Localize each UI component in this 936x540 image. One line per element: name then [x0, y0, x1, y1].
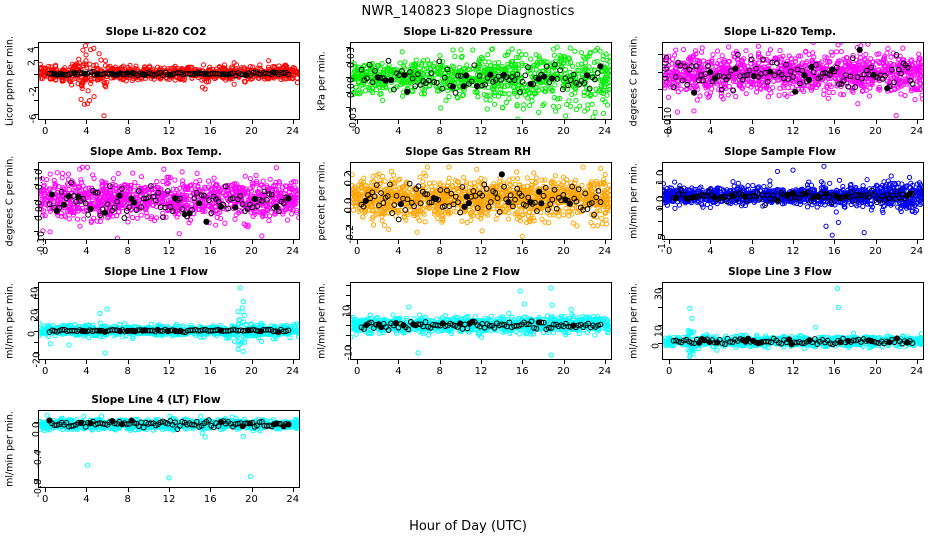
- x-tick-label: 20: [864, 366, 888, 377]
- panel-title: Slope Li-820 CO2: [0, 26, 312, 38]
- x-tick-label: 20: [240, 366, 264, 377]
- x-tick-mark: [45, 120, 46, 124]
- scatter-points: [351, 43, 611, 119]
- y-axis-label: kPa per min.: [317, 51, 328, 110]
- y-tick-label: -6: [28, 114, 39, 123]
- y-tick-mark: [34, 342, 38, 343]
- x-tick-mark: [440, 360, 441, 364]
- x-tick-label: 8: [740, 246, 764, 257]
- x-tick-mark: [669, 360, 670, 364]
- x-tick-label: 24: [593, 366, 617, 377]
- x-tick-mark: [169, 488, 170, 492]
- x-tick-mark: [564, 240, 565, 244]
- y-tick-label: 0.00: [346, 77, 357, 98]
- panel-9: Slope Line 3 Flow01030ml/min per min.048…: [624, 266, 936, 386]
- scatter-points: [663, 163, 923, 239]
- x-tick-label: 4: [74, 494, 98, 505]
- x-tick-mark: [669, 240, 670, 244]
- y-tick-label: 1.0: [655, 170, 666, 185]
- x-tick-mark: [293, 240, 294, 244]
- panel-title: Slope Line 2 Flow: [312, 266, 624, 278]
- x-tick-mark: [128, 240, 129, 244]
- x-tick-label: 4: [698, 246, 722, 257]
- x-tick-mark: [710, 360, 711, 364]
- y-tick-label: 0.0: [343, 198, 354, 213]
- x-tick-label: 0: [657, 126, 681, 137]
- panel-title: Slope Li-820 Temp.: [624, 26, 936, 38]
- panel-4: Slope Amb. Box Temp.-0.100.000.10degrees…: [0, 146, 312, 266]
- scatter-points: [351, 163, 611, 239]
- x-tick-mark: [169, 120, 170, 124]
- x-tick-mark: [793, 240, 794, 244]
- y-axis-label: ml/min per min.: [5, 283, 16, 359]
- y-tick-mark: [34, 74, 38, 75]
- x-tick-mark: [398, 120, 399, 124]
- x-tick-label: 4: [386, 126, 410, 137]
- x-tick-mark: [357, 360, 358, 364]
- x-tick-mark: [793, 120, 794, 124]
- x-tick-label: 12: [469, 246, 493, 257]
- x-tick-label: 16: [198, 126, 222, 137]
- x-tick-label: 0: [33, 126, 57, 137]
- x-tick-label: 4: [386, 366, 410, 377]
- y-axis-label: ml/min per min.: [317, 283, 328, 359]
- x-tick-mark: [522, 360, 523, 364]
- x-tick-mark: [128, 120, 129, 124]
- plot-area: [350, 282, 612, 360]
- x-tick-label: 8: [116, 366, 140, 377]
- x-tick-mark: [398, 240, 399, 244]
- x-tick-mark: [357, 120, 358, 124]
- x-tick-label: 16: [822, 126, 846, 137]
- x-tick-label: 0: [657, 246, 681, 257]
- y-tick-label: 0.10: [34, 169, 45, 190]
- x-tick-label: 24: [905, 366, 929, 377]
- x-tick-mark: [169, 240, 170, 244]
- plot-area: [350, 162, 612, 240]
- x-tick-label: 20: [864, 126, 888, 137]
- y-tick-label: 40: [30, 287, 41, 299]
- x-tick-label: 20: [240, 494, 264, 505]
- x-tick-label: 8: [740, 366, 764, 377]
- x-tick-label: 0: [657, 366, 681, 377]
- x-tick-label: 24: [281, 126, 305, 137]
- x-tick-mark: [293, 120, 294, 124]
- panel-title: Slope Line 1 Flow: [0, 266, 312, 278]
- panel-6: Slope Sample Flow-1.50.01.0ml/min per mi…: [624, 146, 936, 266]
- x-tick-label: 24: [593, 126, 617, 137]
- y-axis-label: percent per min.: [317, 161, 328, 240]
- y-tick-label: 0.00: [34, 200, 45, 221]
- x-tick-label: 20: [240, 246, 264, 257]
- x-tick-label: 20: [240, 126, 264, 137]
- x-tick-mark: [210, 120, 211, 124]
- x-tick-mark: [605, 360, 606, 364]
- x-tick-label: 4: [74, 246, 98, 257]
- y-tick-label: 0.005: [661, 54, 672, 81]
- x-tick-mark: [169, 360, 170, 364]
- panel-3: Slope Li-820 Temp.-0.0100.005degrees C p…: [624, 26, 936, 146]
- x-tick-mark: [876, 240, 877, 244]
- x-tick-label: 12: [781, 366, 805, 377]
- panel-2: Slope Li-820 Pressure-0.030.000.03kPa pe…: [312, 26, 624, 146]
- y-axis-label: ml/min per min.: [629, 283, 640, 359]
- x-tick-mark: [669, 120, 670, 124]
- x-tick-label: 24: [593, 246, 617, 257]
- x-tick-mark: [876, 120, 877, 124]
- plot-area: [38, 410, 300, 488]
- x-tick-label: 12: [781, 126, 805, 137]
- plot-area: [662, 162, 924, 240]
- x-tick-label: 16: [198, 494, 222, 505]
- x-tick-mark: [86, 240, 87, 244]
- x-tick-mark: [481, 240, 482, 244]
- y-tick-label: -10: [343, 345, 354, 361]
- x-tick-mark: [86, 488, 87, 492]
- x-tick-mark: [917, 240, 918, 244]
- x-tick-label: 8: [116, 494, 140, 505]
- plot-area: [662, 282, 924, 360]
- y-tick-mark: [658, 307, 662, 308]
- y-tick-label: 10: [654, 325, 665, 337]
- x-tick-label: 0: [345, 246, 369, 257]
- x-tick-label: 20: [864, 246, 888, 257]
- x-tick-label: 0: [33, 366, 57, 377]
- x-tick-label: 24: [281, 366, 305, 377]
- x-tick-mark: [752, 240, 753, 244]
- y-axis-label: Licor ppm per min.: [5, 36, 16, 126]
- x-tick-mark: [252, 120, 253, 124]
- x-tick-mark: [564, 360, 565, 364]
- panel-title: Slope Line 3 Flow: [624, 266, 936, 278]
- plot-area: [38, 42, 300, 120]
- x-tick-mark: [45, 240, 46, 244]
- y-axis-label: ml/min per min.: [629, 163, 640, 239]
- x-tick-label: 24: [905, 246, 929, 257]
- x-tick-mark: [210, 488, 211, 492]
- scatter-points: [351, 283, 611, 359]
- x-tick-label: 16: [510, 366, 534, 377]
- plot-area: [38, 162, 300, 240]
- x-tick-label: 0: [33, 246, 57, 257]
- x-tick-mark: [45, 488, 46, 492]
- x-tick-mark: [252, 240, 253, 244]
- y-tick-label: 0: [651, 343, 662, 349]
- x-tick-label: 16: [198, 246, 222, 257]
- x-tick-label: 16: [510, 246, 534, 257]
- x-tick-mark: [876, 360, 877, 364]
- x-tick-mark: [128, 488, 129, 492]
- x-tick-mark: [128, 360, 129, 364]
- x-tick-mark: [752, 120, 753, 124]
- x-tick-label: 8: [116, 126, 140, 137]
- x-tick-label: 12: [157, 246, 181, 257]
- y-tick-label: 0.2: [343, 171, 354, 186]
- x-tick-label: 24: [905, 126, 929, 137]
- x-tick-label: 16: [198, 366, 222, 377]
- x-tick-mark: [605, 120, 606, 124]
- x-tick-label: 12: [157, 126, 181, 137]
- y-tick-mark: [658, 89, 662, 90]
- plot-area: [662, 42, 924, 120]
- y-tick-label: 0.0: [31, 422, 42, 437]
- x-tick-mark: [45, 360, 46, 364]
- y-tick-label: -0.2: [345, 225, 356, 244]
- panel-1: Slope Li-820 CO2-6-224Licor ppm per min.…: [0, 26, 312, 146]
- x-tick-mark: [917, 360, 918, 364]
- x-tick-label: 12: [157, 494, 181, 505]
- plot-area: [38, 282, 300, 360]
- y-tick-label: -2: [28, 87, 39, 96]
- scatter-points: [39, 163, 299, 239]
- figure-title: NWR_140823 Slope Diagnostics: [0, 4, 936, 19]
- panel-7: Slope Line 1 Flow-2002040ml/min per min.…: [0, 266, 312, 386]
- figure-canvas: NWR_140823 Slope Diagnostics Slope Li-82…: [0, 0, 936, 540]
- x-tick-mark: [481, 360, 482, 364]
- x-tick-label: 0: [33, 494, 57, 505]
- x-tick-mark: [834, 240, 835, 244]
- plot-area: [350, 42, 612, 120]
- x-tick-label: 16: [510, 126, 534, 137]
- x-tick-mark: [710, 240, 711, 244]
- y-tick-label: 10: [342, 305, 353, 317]
- scatter-points: [663, 283, 923, 359]
- y-axis-label: degrees C per min.: [5, 156, 16, 247]
- x-tick-label: 0: [345, 366, 369, 377]
- panel-title: Slope Li-820 Pressure: [312, 26, 624, 38]
- panel-8: Slope Line 2 Flow-1010ml/min per min.048…: [312, 266, 624, 386]
- x-tick-label: 8: [116, 246, 140, 257]
- x-tick-label: 16: [822, 246, 846, 257]
- scatter-points: [39, 411, 299, 487]
- x-tick-mark: [357, 240, 358, 244]
- y-tick-label: 30: [654, 288, 665, 300]
- x-tick-mark: [210, 360, 211, 364]
- x-tick-label: 4: [386, 246, 410, 257]
- x-tick-label: 4: [698, 366, 722, 377]
- y-tick-mark: [346, 285, 350, 286]
- y-tick-label: 4: [27, 47, 38, 53]
- scatter-points: [39, 283, 299, 359]
- x-tick-mark: [398, 360, 399, 364]
- panel-5: Slope Gas Stream RH-0.20.00.2percent per…: [312, 146, 624, 266]
- x-tick-label: 0: [345, 126, 369, 137]
- x-tick-mark: [564, 120, 565, 124]
- y-tick-label: 0.03: [346, 47, 357, 68]
- x-tick-mark: [752, 360, 753, 364]
- x-tick-mark: [834, 120, 835, 124]
- x-tick-mark: [440, 240, 441, 244]
- x-tick-label: 8: [740, 126, 764, 137]
- x-tick-label: 8: [428, 126, 452, 137]
- x-tick-mark: [440, 120, 441, 124]
- x-tick-mark: [86, 360, 87, 364]
- panel-title: Slope Amb. Box Temp.: [0, 146, 312, 158]
- y-tick-label: 0: [27, 331, 38, 337]
- panel-title: Slope Sample Flow: [624, 146, 936, 158]
- scatter-points: [663, 43, 923, 119]
- x-tick-label: 8: [428, 246, 452, 257]
- x-tick-mark: [252, 488, 253, 492]
- y-axis-label: degrees C per min.: [629, 36, 640, 127]
- y-tick-mark: [658, 221, 662, 222]
- y-tick-label: 20: [30, 309, 41, 321]
- y-tick-mark: [346, 325, 350, 326]
- x-tick-label: 20: [552, 126, 576, 137]
- x-tick-mark: [522, 240, 523, 244]
- y-axis-label: ml/min per min.: [5, 411, 16, 487]
- x-tick-mark: [605, 240, 606, 244]
- x-tick-label: 12: [157, 366, 181, 377]
- x-tick-mark: [917, 120, 918, 124]
- panel-title: Slope Line 4 (LT) Flow: [0, 394, 312, 406]
- x-tick-label: 4: [74, 366, 98, 377]
- x-tick-label: 12: [469, 366, 493, 377]
- y-tick-label: -0.4: [33, 450, 44, 469]
- y-tick-label: 2: [27, 60, 38, 66]
- x-tick-mark: [793, 360, 794, 364]
- y-tick-mark: [346, 335, 350, 336]
- y-tick-label: 0.0: [655, 196, 666, 211]
- y-tick-mark: [658, 107, 662, 108]
- x-tick-label: 20: [552, 246, 576, 257]
- x-tick-label: 4: [74, 126, 98, 137]
- x-tick-label: 12: [781, 246, 805, 257]
- x-tick-mark: [522, 120, 523, 124]
- x-tick-label: 20: [552, 366, 576, 377]
- x-tick-mark: [481, 120, 482, 124]
- x-tick-label: 24: [281, 494, 305, 505]
- x-tick-mark: [834, 360, 835, 364]
- y-tick-mark: [346, 295, 350, 296]
- x-tick-label: 8: [428, 366, 452, 377]
- x-tick-label: 16: [822, 366, 846, 377]
- panel-10: Slope Line 4 (LT) Flow-0.8-0.40.0ml/min …: [0, 394, 312, 514]
- x-tick-mark: [252, 360, 253, 364]
- panel-title: Slope Gas Stream RH: [312, 146, 624, 158]
- y-tick-mark: [34, 100, 38, 101]
- x-tick-mark: [710, 120, 711, 124]
- x-tick-label: 4: [698, 126, 722, 137]
- x-tick-mark: [293, 360, 294, 364]
- x-tick-label: 24: [281, 246, 305, 257]
- x-tick-mark: [86, 120, 87, 124]
- x-tick-mark: [210, 240, 211, 244]
- x-tick-mark: [293, 488, 294, 492]
- figure-xaxis-title: Hour of Day (UTC): [0, 519, 936, 534]
- scatter-points: [39, 43, 299, 119]
- x-tick-label: 12: [469, 126, 493, 137]
